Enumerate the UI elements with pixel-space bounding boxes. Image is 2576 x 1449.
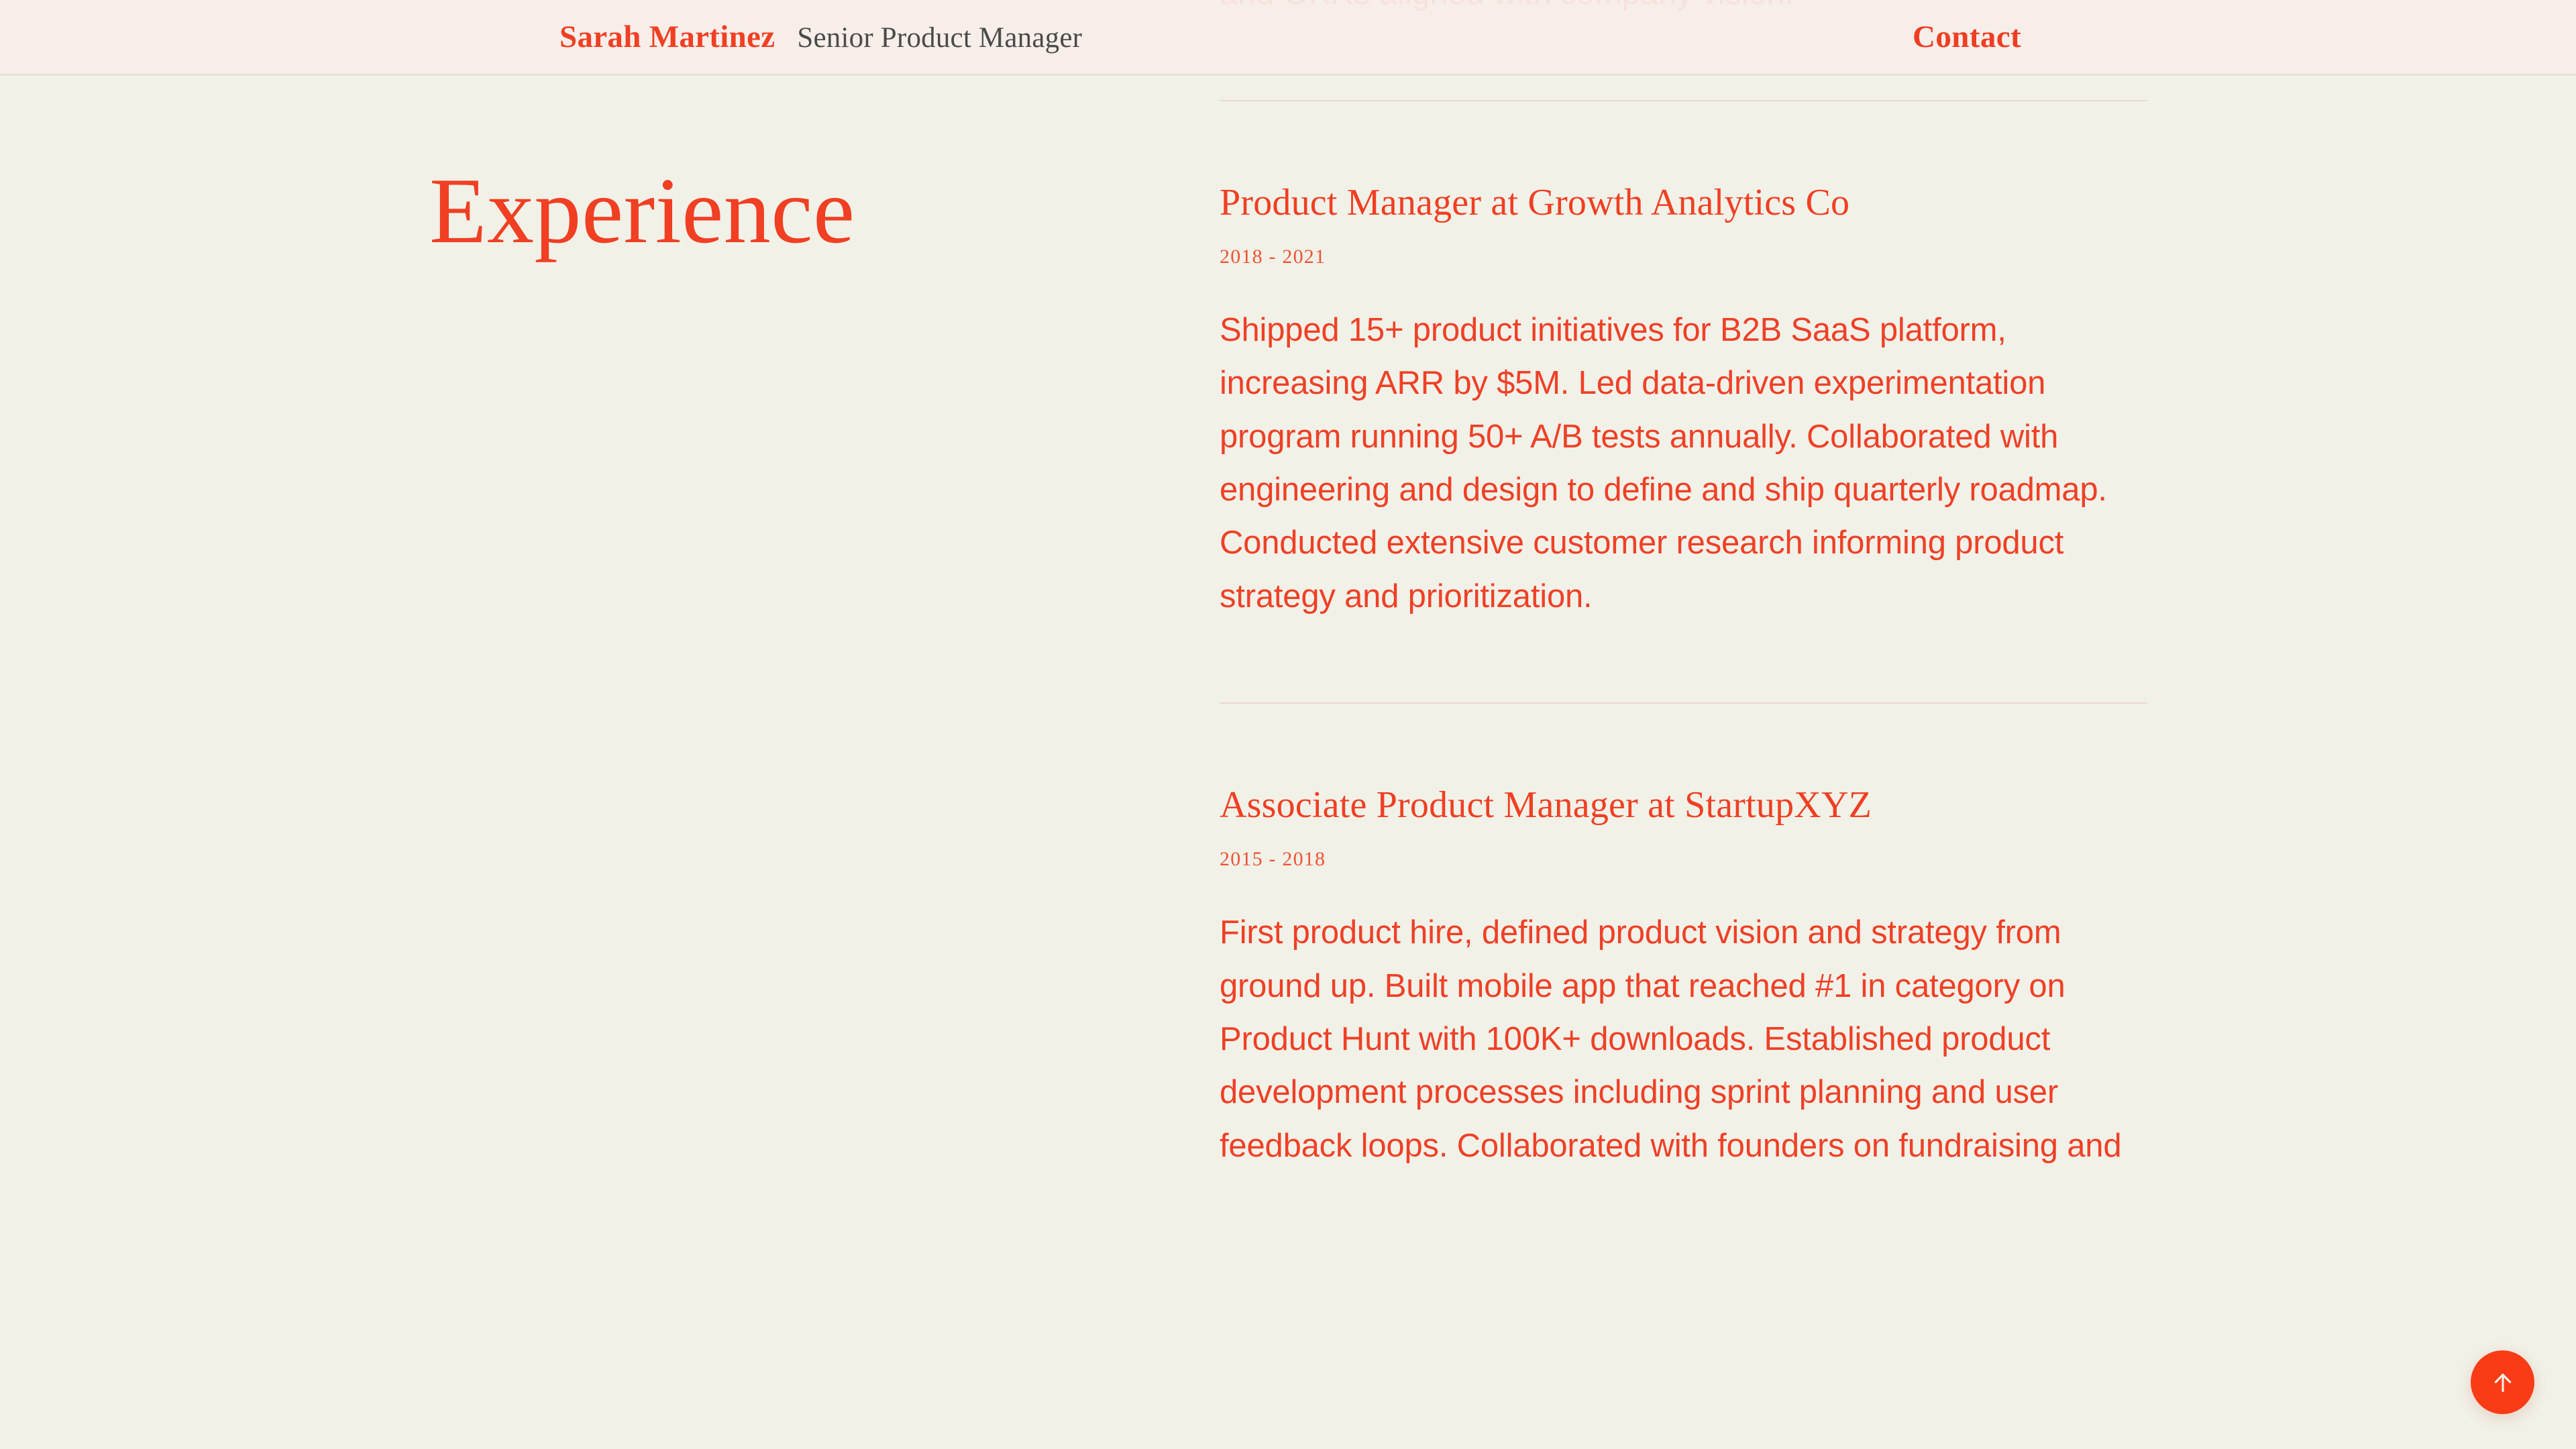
experience-entry: Associate Product Manager at StartupXYZ … (1220, 783, 2147, 1173)
entry-date-range: 2015 - 2018 (1220, 847, 2147, 871)
entry-description: Shipped 15+ product initiatives for B2B … (1220, 304, 2132, 623)
scroll-to-top-button[interactable] (2471, 1350, 2534, 1414)
entry-divider (1220, 702, 2147, 704)
entry-divider (1220, 100, 2147, 101)
page-title: Experience (429, 164, 855, 258)
entry-job-title: Associate Product Manager at StartupXYZ (1220, 783, 2147, 827)
site-header: Sarah Martinez Senior Product Manager Co… (0, 0, 2576, 76)
experience-list: engineers, designers, and analysts. Defi… (1220, 0, 2147, 1173)
entry-date-range: 2018 - 2021 (1220, 245, 2147, 269)
entry-description: First product hire, defined product visi… (1220, 906, 2132, 1173)
brand[interactable]: Sarah Martinez Senior Product Manager (559, 19, 1082, 55)
brand-role: Senior Product Manager (797, 21, 1082, 54)
entry-job-title: Product Manager at Growth Analytics Co (1220, 180, 2147, 225)
page-root: engineers, designers, and analysts. Defi… (0, 0, 2576, 1449)
nav-link-contact[interactable]: Contact (1913, 19, 2021, 55)
arrow-up-icon (2489, 1369, 2516, 1396)
brand-name[interactable]: Sarah Martinez (559, 19, 775, 55)
experience-entry: Product Manager at Growth Analytics Co 2… (1220, 180, 2147, 623)
